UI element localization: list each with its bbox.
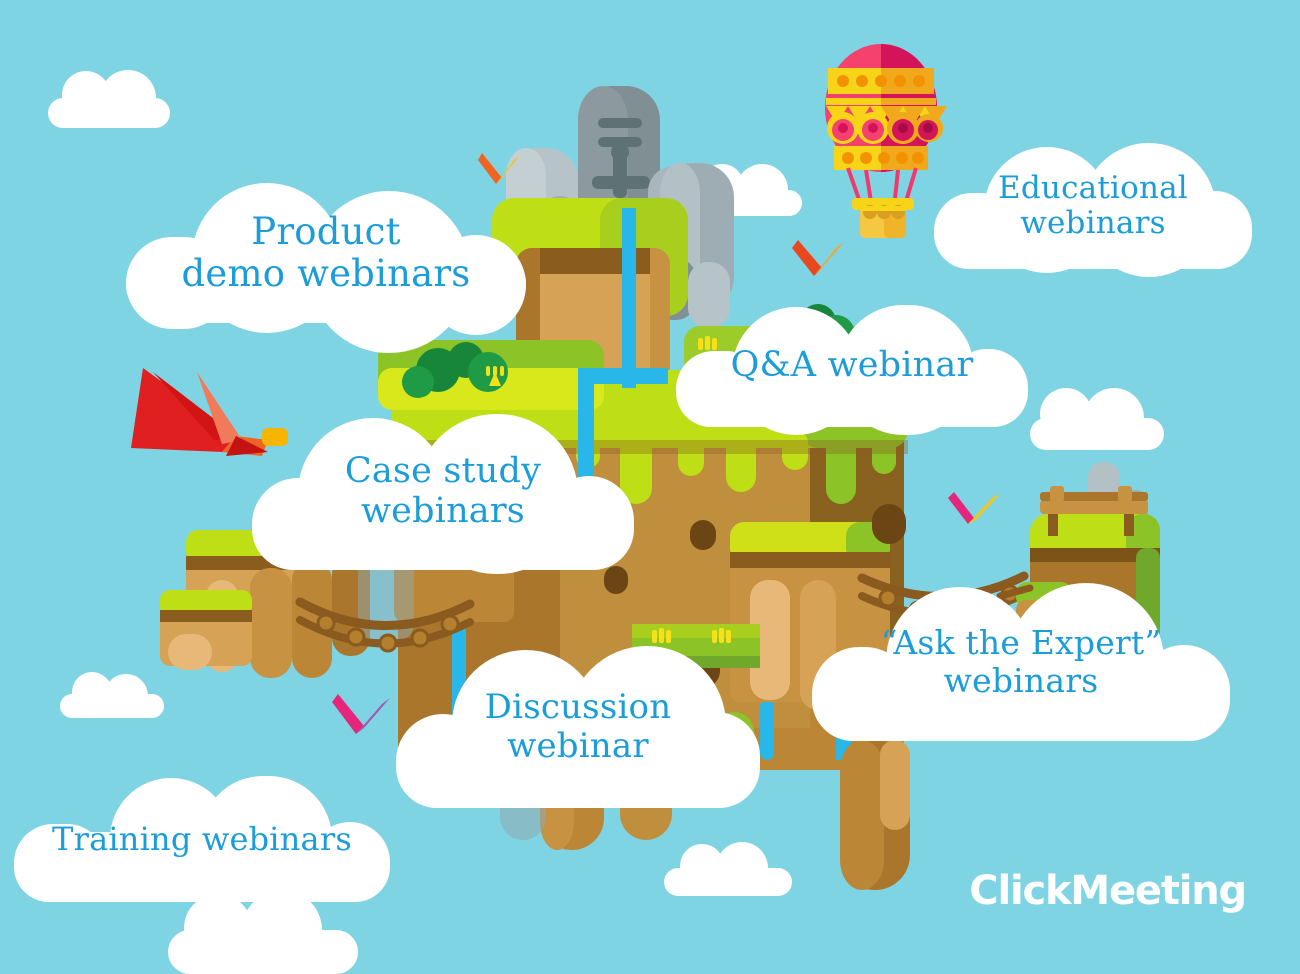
label-text: Product demo webinars [182,211,471,295]
label-discussion-webinar[interactable]: Discussion webinar [396,646,760,808]
label-text: Case study webinars [345,452,541,532]
label-text: Discussion webinar [485,688,672,766]
clickmeeting-cursor-logo-icon [969,868,1300,974]
label-case-study-webinars[interactable]: Case study webinars [252,414,634,570]
label-text: “Ask the Expert” webinars [881,624,1162,699]
label-qa-webinar[interactable]: Q&A webinar [676,305,1028,427]
label-product-demo-webinars[interactable]: Product demo webinars [126,183,526,323]
infographic-canvas: Product demo webinars Educational webina… [0,0,1300,974]
label-text: Training webinars [52,821,352,857]
label-training-webinars[interactable]: Training webinars [14,776,390,902]
label-text: Educational webinars [998,171,1188,242]
label-text: Q&A webinar [731,346,974,386]
label-ask-the-expert-webinars[interactable]: “Ask the Expert” webinars [812,583,1230,741]
clickmeeting-logo[interactable]: ClickMeeting [969,868,1246,914]
left-green-shelf [378,340,604,410]
label-educational-webinars[interactable]: Educational webinars [934,143,1252,269]
